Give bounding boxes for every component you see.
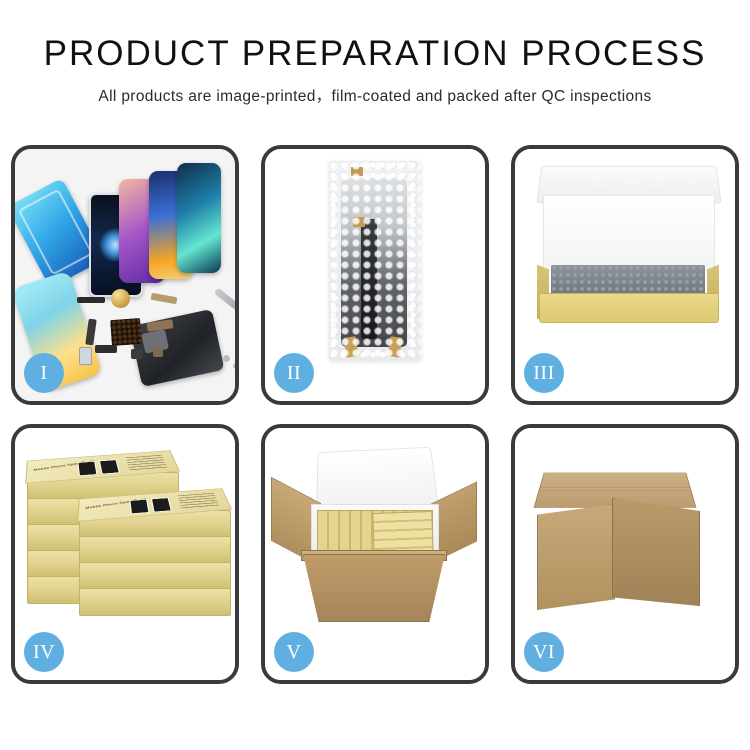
page-title: PRODUCT PREPARATION PROCESS — [0, 36, 750, 73]
process-step-4: Mobile Phone Spare Parts Mobile Phone Sp… — [11, 424, 239, 684]
sealed-carton-front-icon — [537, 504, 615, 610]
process-step-grid: I II — [11, 145, 739, 684]
box-phone-thumb-1 — [77, 461, 97, 476]
header: PRODUCT PREPARATION PROCESS All products… — [0, 0, 750, 106]
step-badge-2: II — [274, 353, 314, 393]
screwdriver-icon — [214, 288, 235, 322]
stacked-box-8 — [79, 562, 231, 590]
process-step-3: III — [511, 145, 739, 405]
sim-tray-icon — [79, 347, 92, 365]
speaker-module-icon — [153, 347, 163, 357]
process-step-2: II — [261, 145, 489, 405]
page-subtitle: All products are image-printed，film-coat… — [0, 84, 750, 106]
chip-grid-icon — [110, 318, 142, 346]
camera-module-icon — [131, 349, 143, 359]
screw-2-icon — [233, 363, 235, 369]
flex-cable-3-icon — [85, 319, 97, 346]
flex-cable-4-icon — [95, 345, 117, 353]
phone-backplate-icon — [129, 309, 224, 387]
carton-tape-1-icon — [576, 601, 594, 621]
bubble-wrap-bag — [329, 161, 421, 361]
step-badge-5: V — [274, 632, 314, 672]
box-stack-group: Mobile Phone Spare Parts Mobile Phone Sp… — [23, 442, 233, 632]
carton-body-icon — [303, 554, 445, 622]
sealed-carton-side-icon — [612, 498, 700, 606]
box-phone-thumb-2 — [99, 459, 120, 474]
preparation-process-page: PRODUCT PREPARATION PROCESS All products… — [0, 0, 750, 750]
flex-cable-1-icon — [77, 297, 105, 303]
copper-disc-icon — [111, 289, 130, 308]
box-front-panel-icon — [539, 293, 719, 323]
step-badge-6: VI — [524, 632, 564, 672]
carton-tape-2-icon — [578, 657, 596, 677]
process-step-1: I — [11, 145, 239, 405]
white-foam-sheet-icon — [543, 195, 715, 271]
box-spec-lines-1 — [126, 455, 168, 471]
process-step-6: VI — [511, 424, 739, 684]
stacked-box-7 — [79, 536, 231, 564]
flex-cable-2-icon — [151, 293, 178, 304]
packed-boxes-row-2 — [372, 511, 433, 555]
box-phone-thumb-3 — [129, 499, 149, 514]
step-badge-4: IV — [24, 632, 64, 672]
foam-lid-icon — [316, 447, 439, 512]
stacked-box-9 — [79, 588, 231, 616]
phone-teal-icon — [177, 163, 221, 273]
step-badge-3: III — [524, 353, 564, 393]
box-spec-lines-2 — [178, 493, 220, 509]
box-phone-thumb-4 — [151, 497, 172, 512]
process-step-5: V — [261, 424, 489, 684]
screw-1-icon — [223, 355, 230, 362]
step-badge-1: I — [24, 353, 64, 393]
bubble-texture-overlay — [329, 161, 421, 361]
